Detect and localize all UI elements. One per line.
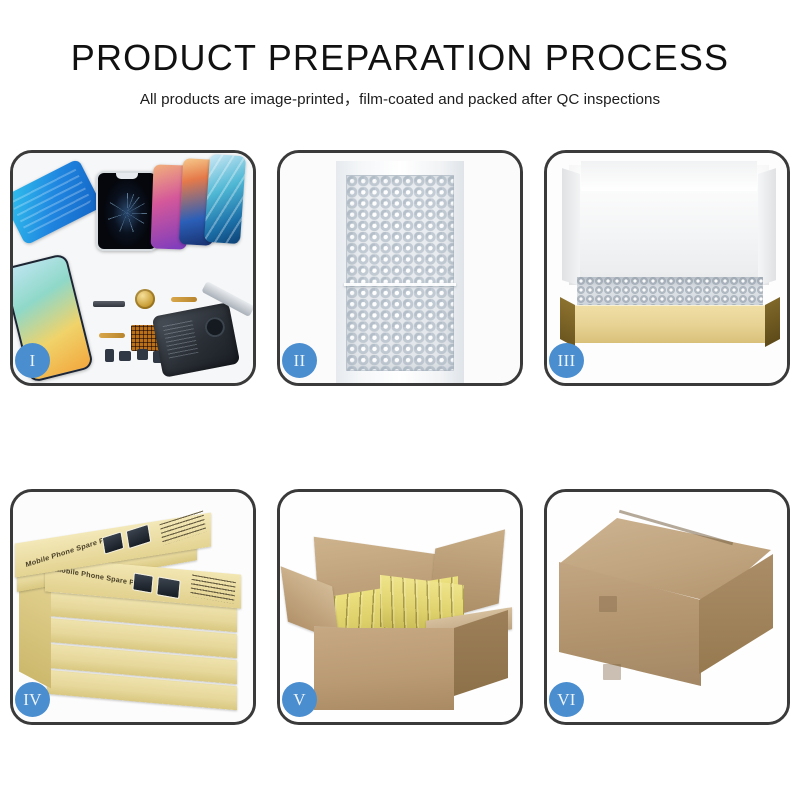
page-subtitle: All products are image-printed，film-coat… (0, 87, 800, 109)
screen-protector-icon (96, 171, 158, 251)
phone-teal-icon (204, 154, 246, 244)
box-screen-image-2 (156, 576, 181, 599)
box-screen-image-4 (126, 524, 152, 549)
part-strip-icon (93, 301, 125, 307)
step-panel-4: Mobile Phone Spare Parts Mobile Phone Sp… (10, 489, 256, 725)
bubble-wrap-illustration (280, 153, 520, 383)
page-header: PRODUCT PREPARATION PROCESS All products… (0, 0, 800, 109)
step-badge-4: IV (15, 682, 50, 717)
step-panel-6: VI (544, 489, 790, 725)
part-flex-cable-2-icon (99, 333, 125, 338)
page-title: PRODUCT PREPARATION PROCESS (0, 38, 800, 78)
bubble-pattern-icon (346, 175, 454, 371)
sleeve-seam-icon (344, 283, 456, 286)
part-camera-icon (137, 349, 148, 360)
step-badge-6: VI (549, 682, 584, 717)
retail-box-stack-illustration: Mobile Phone Spare Parts Mobile Phone Sp… (13, 492, 253, 722)
phone-parts-illustration (13, 153, 253, 383)
inner-box-illustration (547, 153, 787, 383)
box-screen-image-1 (132, 572, 153, 593)
box-spec-lines-front (190, 574, 236, 603)
kraft-box-front-icon (573, 305, 767, 343)
step-badge-1: I (15, 343, 50, 378)
phone-back-panel-cyan-icon (13, 158, 103, 245)
box-lid-flap-icon (581, 161, 757, 191)
bubble-wrap-sleeve-icon (336, 161, 464, 383)
carton-front-face-icon (314, 628, 454, 710)
carton-handle-tab-top-icon (599, 596, 617, 612)
carton-handle-tab-bottom-icon (603, 664, 621, 680)
process-steps-grid: I II III (10, 150, 790, 725)
phone-backplate-icon (152, 302, 240, 378)
step-badge-3: III (549, 343, 584, 378)
step-panel-3: III (544, 150, 790, 386)
part-flex-cable-icon (171, 297, 197, 302)
part-speaker-coil-icon (135, 289, 155, 309)
part-bracket-icon (119, 351, 131, 361)
box-spec-lines-rear (160, 510, 207, 545)
step-badge-5: V (282, 682, 317, 717)
step-badge-2: II (282, 343, 317, 378)
carton-loading-illustration (280, 492, 520, 722)
sealed-carton-illustration (547, 492, 787, 722)
part-connector-icon (105, 349, 114, 362)
step-panel-1: I (10, 150, 256, 386)
step-panel-5: V (277, 489, 523, 725)
step-panel-2: II (277, 150, 523, 386)
